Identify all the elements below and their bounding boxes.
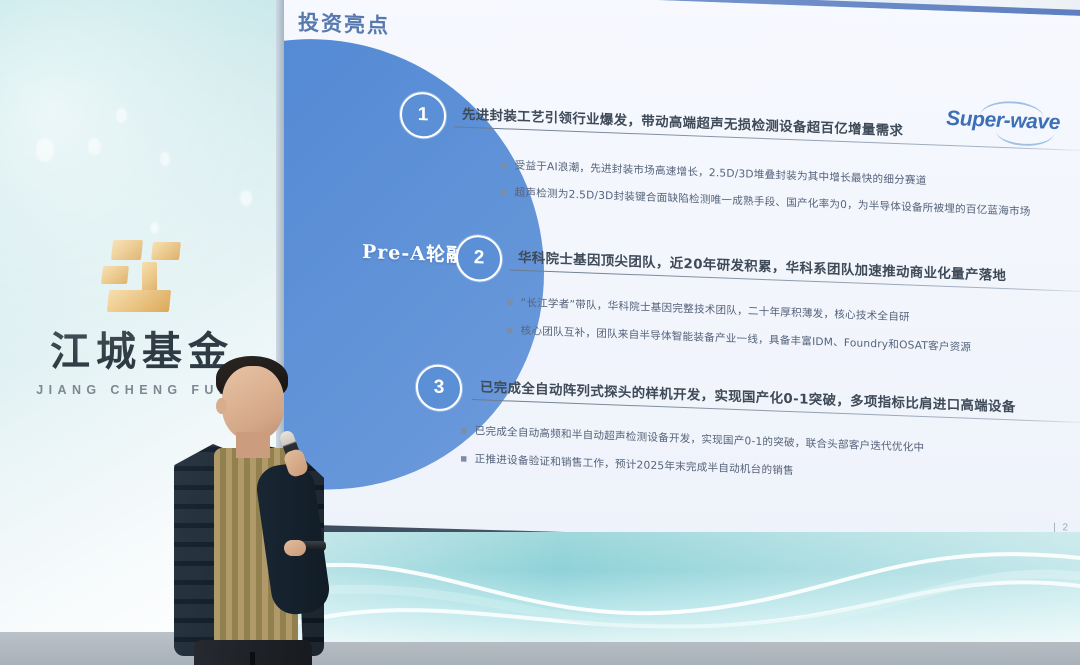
- bullet-number-1-text: 1: [418, 104, 429, 126]
- slide-canvas: 投资亮点 Super-wave Pre-A轮融资 1 先进封装工艺引领行业爆发，…: [284, 0, 1080, 564]
- stage-wave-graphic: [278, 532, 1080, 642]
- speaker-leg-gap: [250, 652, 255, 665]
- bullet-number-2: 2: [456, 234, 502, 282]
- sub-bullet-3-1-text: 已完成全自动高频和半自动超声检测设备开发，实现国产0-1的突破，联合头部客户迭代…: [475, 425, 925, 454]
- bokeh-dot: [240, 190, 252, 206]
- bullet-dot-icon: ▪: [460, 424, 468, 437]
- speaker-neck: [236, 432, 270, 458]
- sub-bullet-1-1: ▪受益于AI浪潮，先进封装市场高速增长，2.5D/3D堆叠封装为其中增长最快的细…: [500, 157, 927, 188]
- bokeh-dot: [116, 108, 127, 123]
- sub-bullet-3-2: ▪正推进设备验证和销售工作，预计2025年末完成半自动机台的销售: [460, 451, 794, 479]
- bokeh-dot: [88, 138, 101, 155]
- projection-screen: 投资亮点 Super-wave Pre-A轮融资 1 先进封装工艺引领行业爆发，…: [284, 0, 1080, 564]
- bullet-number-2-text: 2: [474, 247, 485, 269]
- wave-lines-icon: [278, 532, 1080, 642]
- headline-3: 已完成全自动阵列式探头的样机开发，实现国产化0-1突破，多项指标比肩进口高端设备: [480, 375, 1016, 415]
- bullet-dot-icon: ▪: [506, 295, 514, 308]
- sub-bullet-1-1-text: 受益于AI浪潮，先进封装市场高速增长，2.5D/3D堆叠封装为其中增长最快的细分…: [515, 160, 927, 187]
- sub-bullet-2-1: ▪“长江学者”带队，华科院士基因完整技术团队，二十年厚积薄发，核心技术全自研: [506, 294, 910, 324]
- speaker-hand: [284, 540, 306, 556]
- bokeh-dot: [36, 138, 54, 162]
- speaker-person: [168, 352, 354, 665]
- speaker-head: [222, 366, 284, 440]
- jiangcheng-geometric-mark-icon: [96, 240, 188, 318]
- sub-bullet-2-2: ▪核心团队互补，团队来自半导体智能装备产业一线，具备丰富IDM、Foundry和…: [506, 322, 971, 354]
- sub-bullet-2-1-text: “长江学者”带队，华科院士基因完整技术团队，二十年厚积薄发，核心技术全自研: [521, 297, 910, 324]
- bokeh-dot: [150, 222, 159, 234]
- superwave-brand-logo: Super-wave: [946, 107, 1060, 135]
- sub-bullet-1-2-text: 超声检测为2.5D/3D封装键合面缺陷检测唯一成熟手段、国产化率为0，为半导体设…: [515, 187, 1031, 218]
- sub-bullet-3-2-text: 正推进设备验证和销售工作，预计2025年末完成半自动机台的销售: [475, 453, 794, 477]
- sub-bullet-2-2-text: 核心团队互补，团队来自半导体智能装备产业一线，具备丰富IDM、Foundry和O…: [521, 325, 972, 354]
- speaker-ear: [216, 398, 227, 414]
- presentation-photo: 江城基金 JIANG CHENG FUND 投资亮点 Super-wave Pr…: [0, 0, 1080, 665]
- bullet-number-1: 1: [400, 91, 446, 139]
- headline-1: 先进封装工艺引领行业爆发，带动高端超声无损检测设备超百亿增量需求: [462, 103, 903, 140]
- bullet-dot-icon: ▪: [460, 452, 468, 465]
- bullet-number-3-text: 3: [434, 377, 445, 399]
- sub-bullet-1-2: ▪超声检测为2.5D/3D封装键合面缺陷检测唯一成熟手段、国产化率为0，为半导体…: [500, 184, 1031, 219]
- bullet-number-3: 3: [416, 364, 462, 412]
- bokeh-dot: [160, 152, 170, 166]
- bullet-dot-icon: ▪: [500, 158, 508, 171]
- bullet-dot-icon: ▪: [500, 185, 508, 198]
- sub-bullet-3-1: ▪已完成全自动高频和半自动超声检测设备开发，实现国产0-1的突破，联合头部客户迭…: [460, 423, 924, 455]
- bullet-dot-icon: ▪: [506, 323, 514, 336]
- headline-2: 华科院士基因顶尖团队，近20年研发积累，华科系团队加速推动商业化量产落地: [518, 246, 1006, 284]
- slide-title: 投资亮点: [298, 7, 390, 40]
